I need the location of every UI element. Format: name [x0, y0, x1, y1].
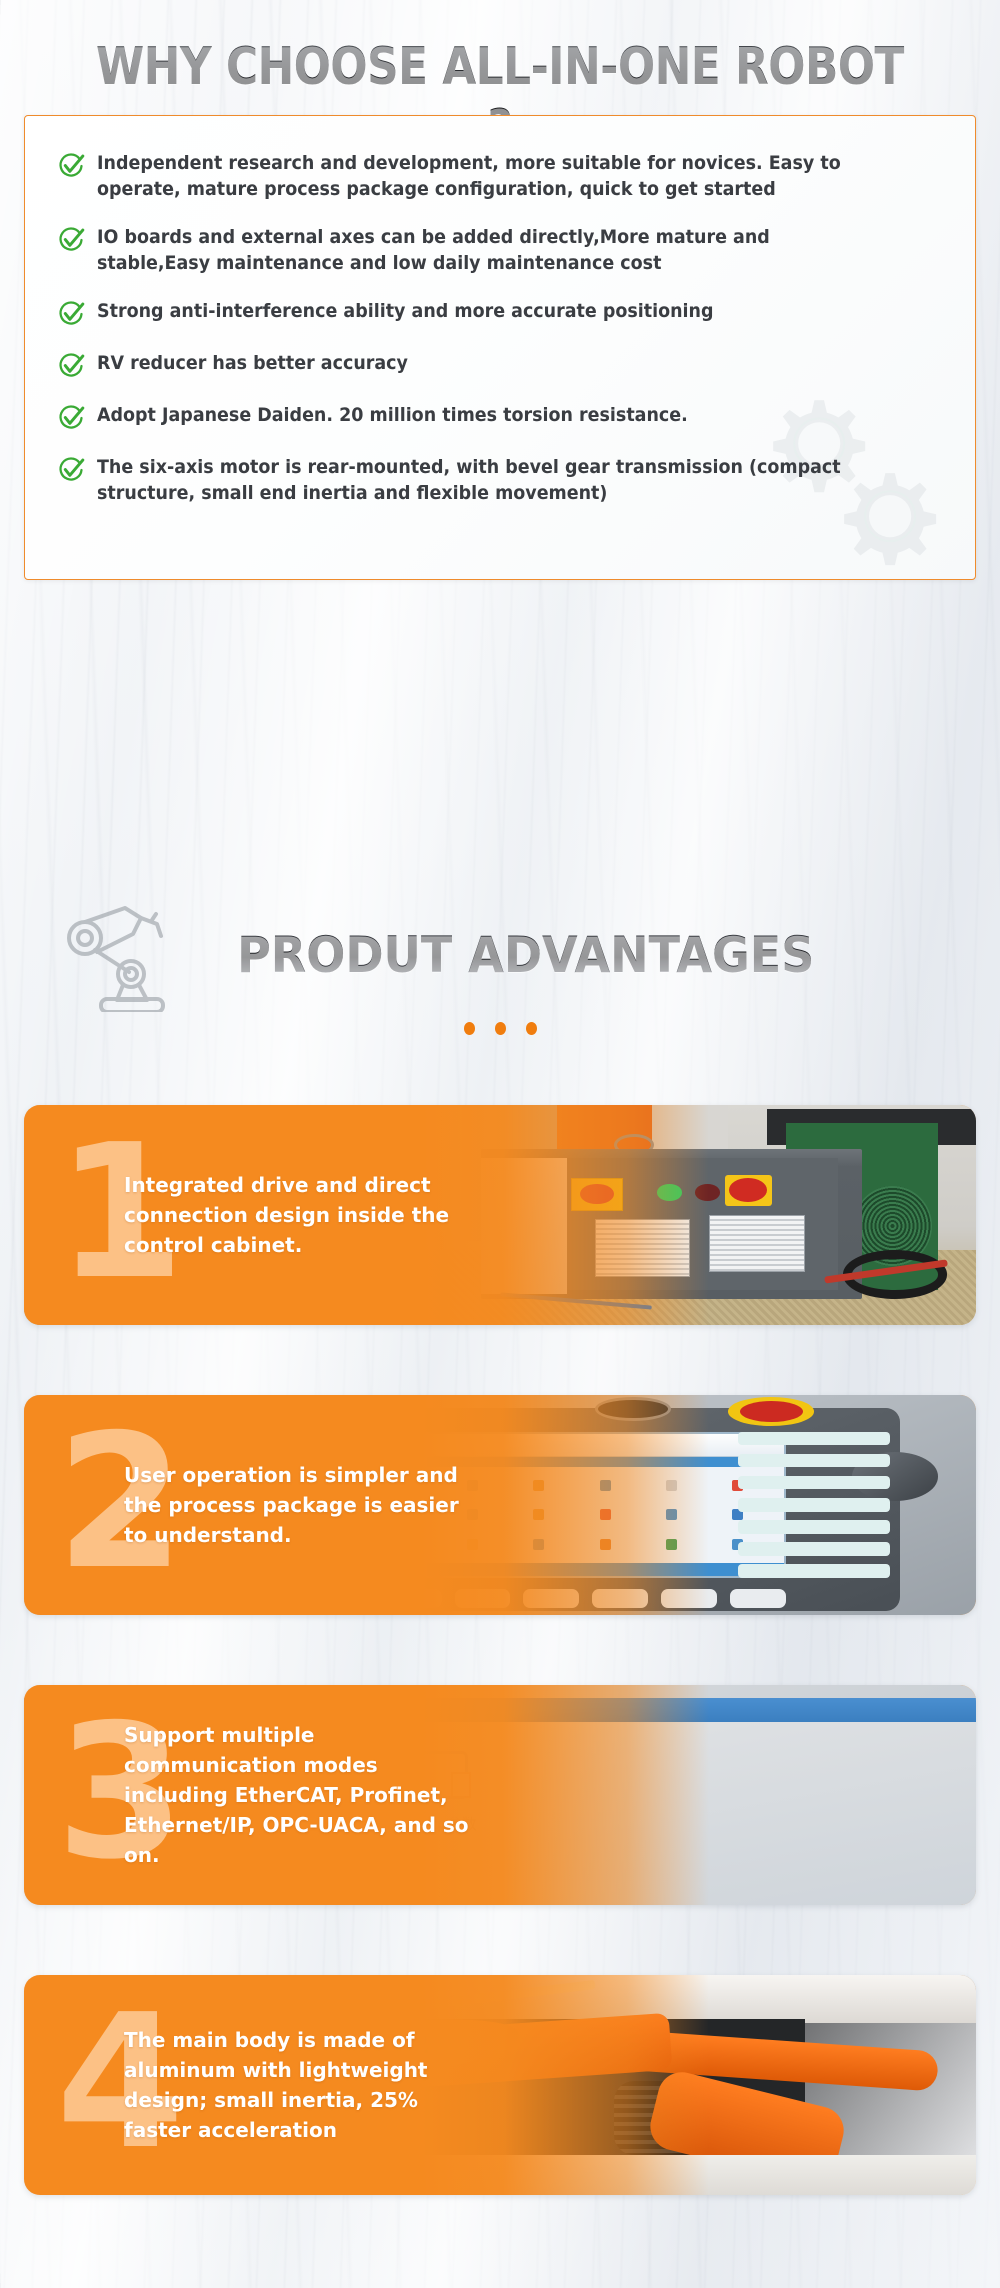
check-circle-icon — [57, 404, 85, 432]
feature-text: IO boards and external axes can be added… — [97, 224, 877, 276]
feature-text: Strong anti-interference ability and mor… — [97, 298, 877, 324]
feature-text: Independent research and development, mo… — [97, 150, 877, 202]
robot-arm-outline-icon — [57, 900, 177, 1012]
advantages-title: PRODUT ADVANTAGES — [237, 925, 814, 985]
feature-item: RV reducer has better accuracy — [57, 350, 945, 380]
feature-panel: Independent research and development, mo… — [24, 115, 976, 580]
dot-3 — [526, 1022, 537, 1035]
feature-list: Independent research and development, mo… — [25, 116, 975, 506]
check-circle-icon — [57, 152, 85, 180]
advantage-card-2[interactable]: 2 User operation is simpler and the proc… — [24, 1395, 976, 1615]
check-circle-icon — [57, 456, 85, 484]
feature-item: IO boards and external axes can be added… — [57, 224, 945, 276]
check-circle-icon — [57, 300, 85, 328]
card-text: User operation is simpler and the proces… — [124, 1460, 484, 1550]
feature-item: The six-axis motor is rear-mounted, with… — [57, 454, 945, 506]
advantage-card-1[interactable]: 1 Integrated drive and direct connection… — [24, 1105, 976, 1325]
decorative-dots — [0, 1022, 1000, 1040]
card-text: The main body is made of aluminum with l… — [124, 2025, 484, 2145]
card-text: Integrated drive and direct connection d… — [124, 1170, 484, 1260]
check-circle-icon — [57, 226, 85, 254]
advantage-card-4[interactable]: SZGH 4 The main body is made of aluminum… — [24, 1975, 976, 2195]
feature-item: Adopt Japanese Daiden. 20 million times … — [57, 402, 945, 432]
dot-1 — [464, 1022, 475, 1035]
feature-text: The six-axis motor is rear-mounted, with… — [97, 454, 877, 506]
check-circle-icon — [57, 352, 85, 380]
feature-text: RV reducer has better accuracy — [97, 350, 877, 376]
feature-text: Adopt Japanese Daiden. 20 million times … — [97, 402, 877, 428]
feature-item: Strong anti-interference ability and mor… — [57, 298, 945, 328]
card-text: Support multiple communication modes inc… — [124, 1720, 484, 1870]
advantages-heading: PRODUT ADVANTAGES — [0, 890, 1000, 1020]
feature-item: Independent research and development, mo… — [57, 150, 945, 202]
advantage-card-3[interactable]: 设置/modbus设置 modbus参数 modbus程序 finstcp参数 … — [24, 1685, 976, 1905]
dot-2 — [495, 1022, 506, 1035]
